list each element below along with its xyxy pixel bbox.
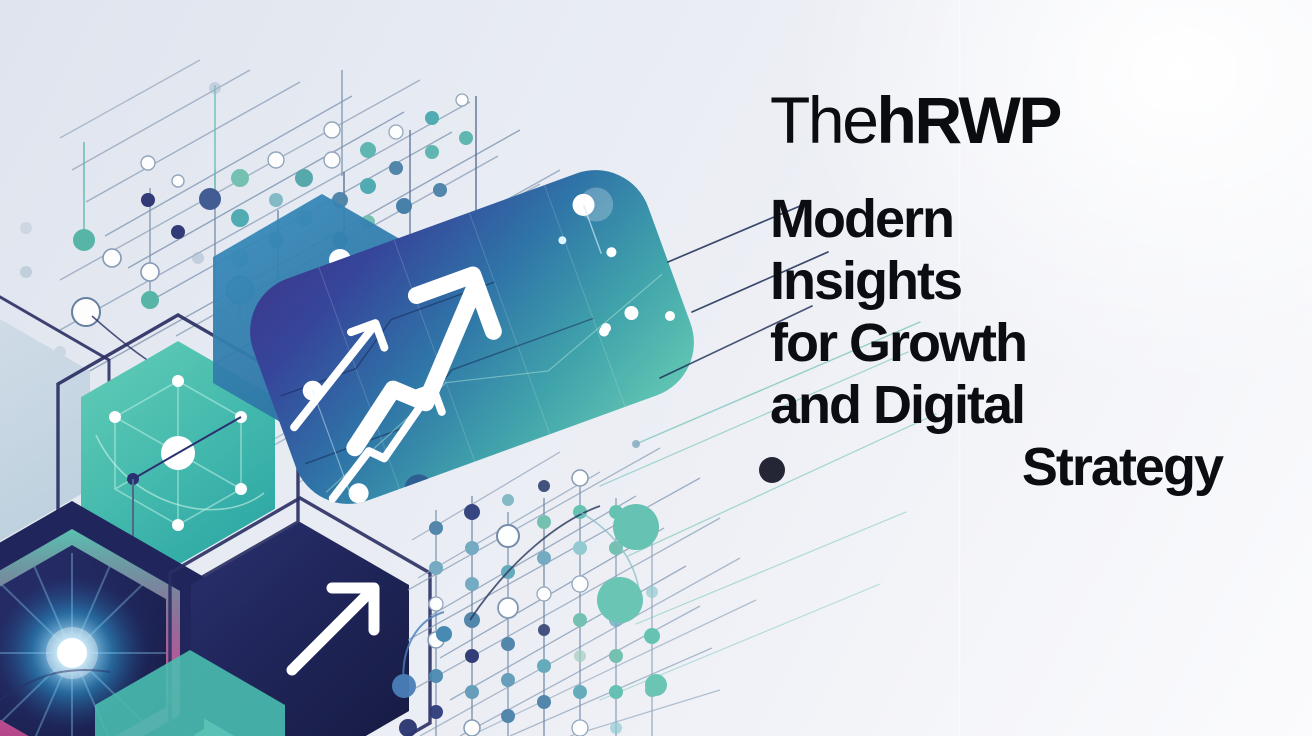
lattice-bottom-center [392,448,756,736]
page-title: ThehRWP [770,86,1222,154]
title-part-bold: hRWP [877,83,1061,157]
headline-line-2: Insights [770,250,1222,312]
headline-line-5: Strategy [770,436,1222,498]
headline-line-4: and Digital [770,374,1222,436]
headline: Modern Insights for Growth and Digital S… [770,188,1222,498]
headline-line-1: Modern [770,188,1222,250]
banner-root: ThehRWP Modern Insights for Growth and D… [0,0,1312,736]
title-part-light: The [770,83,877,157]
headline-line-3: for Growth [770,312,1222,374]
text-block: ThehRWP Modern Insights for Growth and D… [770,86,1222,498]
